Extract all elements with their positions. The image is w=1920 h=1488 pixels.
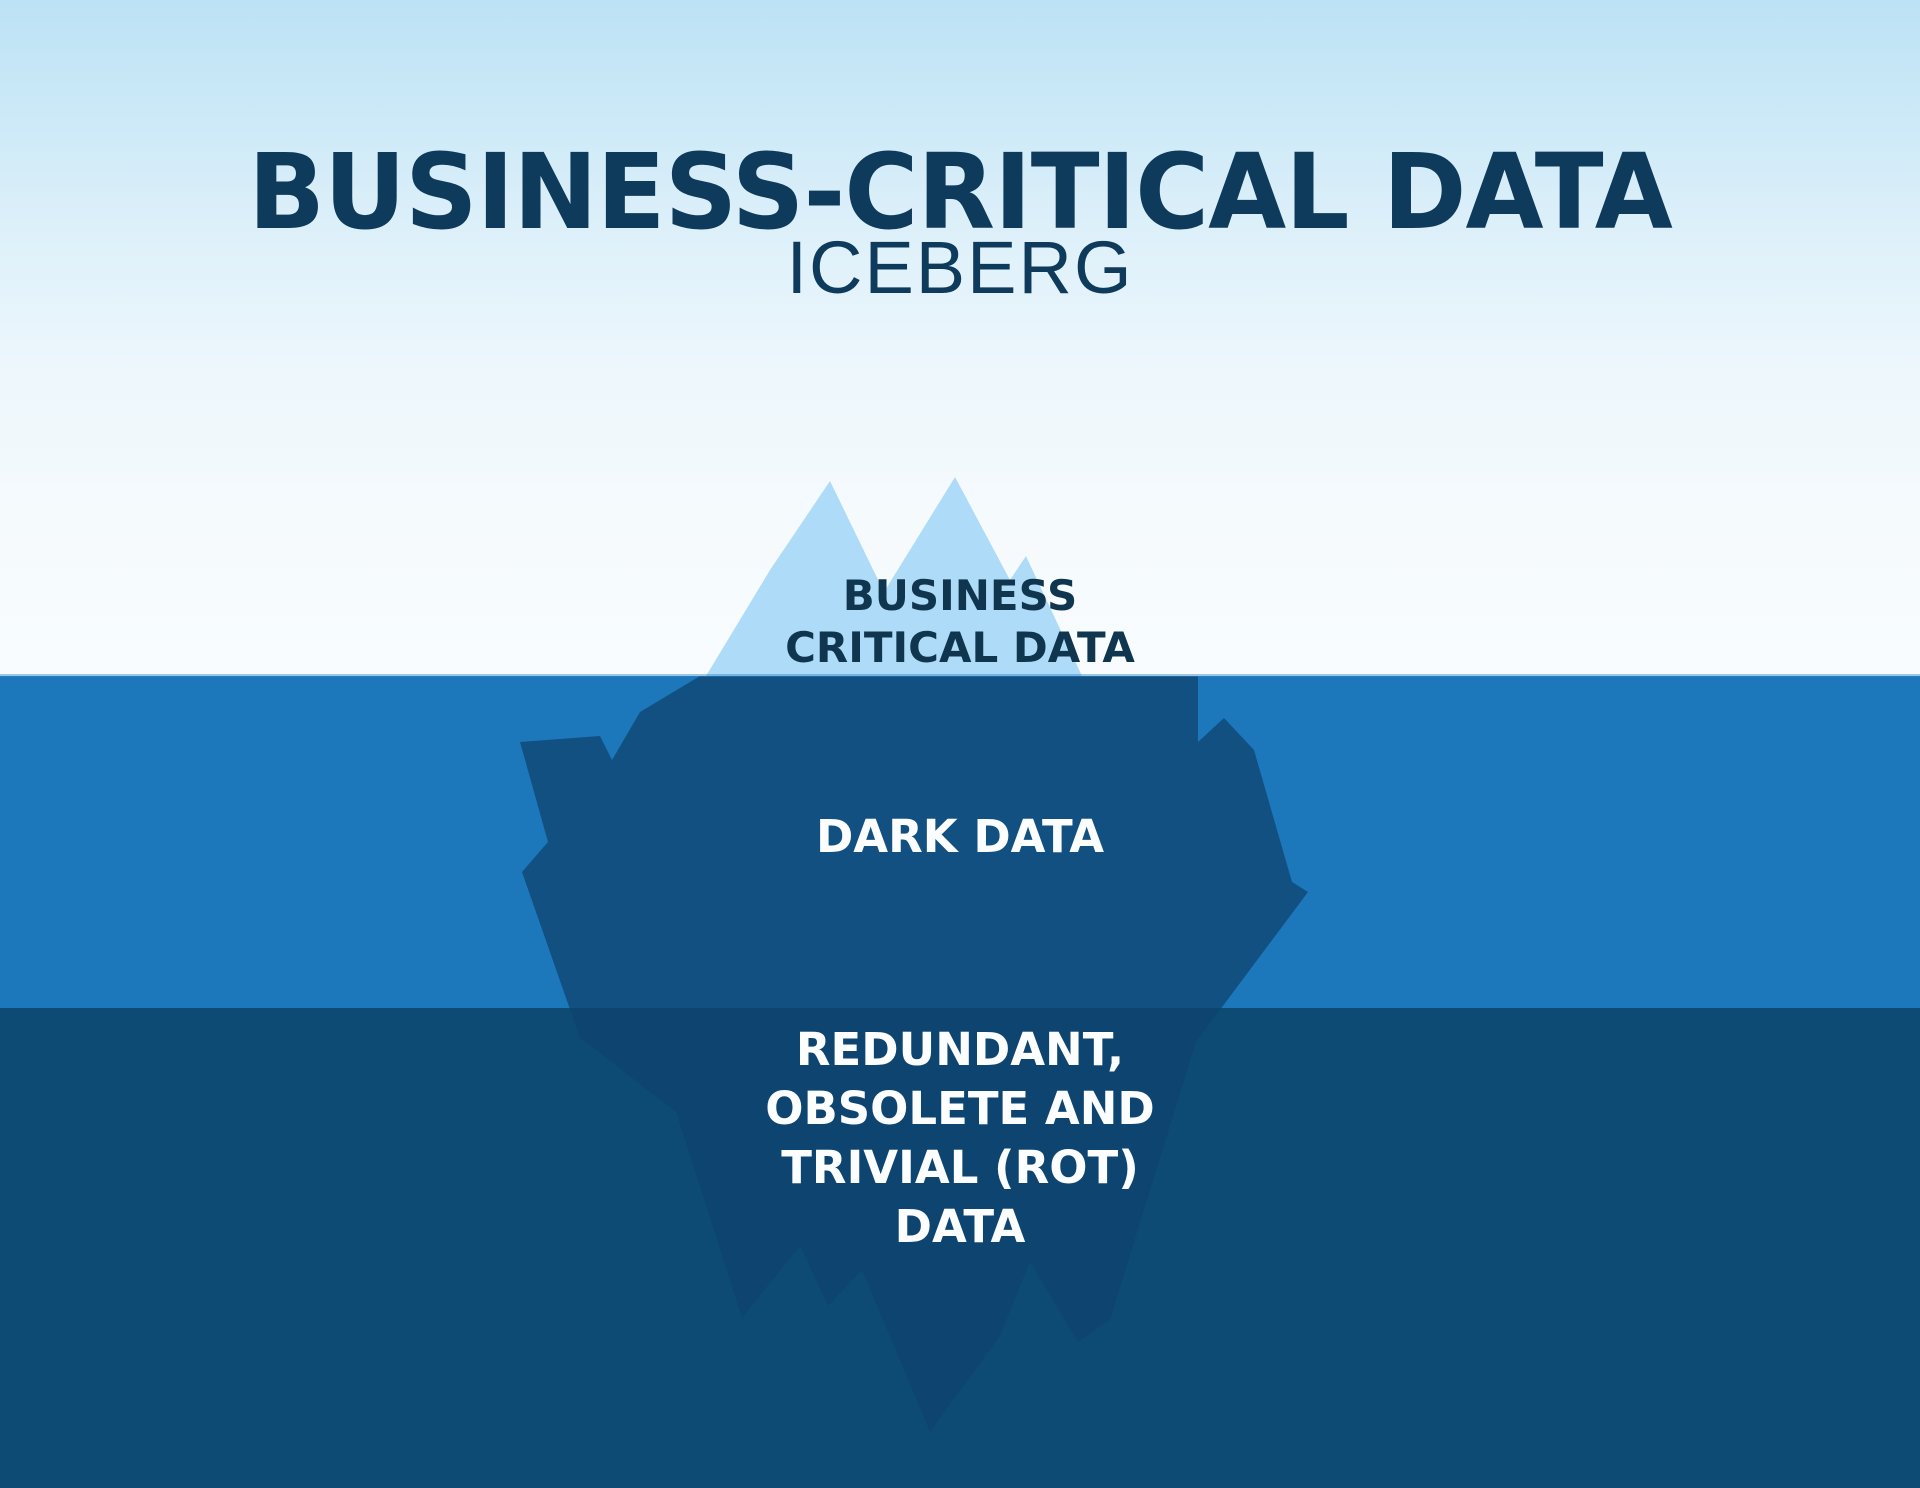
page-subtitle: ICEBERG (0, 228, 1920, 308)
infographic-canvas: BUSINESS-CRITICAL DATA ICEBERG BUSINESS … (0, 0, 1920, 1488)
waterline (0, 674, 1920, 677)
iceberg-tip-shape (700, 477, 1198, 676)
